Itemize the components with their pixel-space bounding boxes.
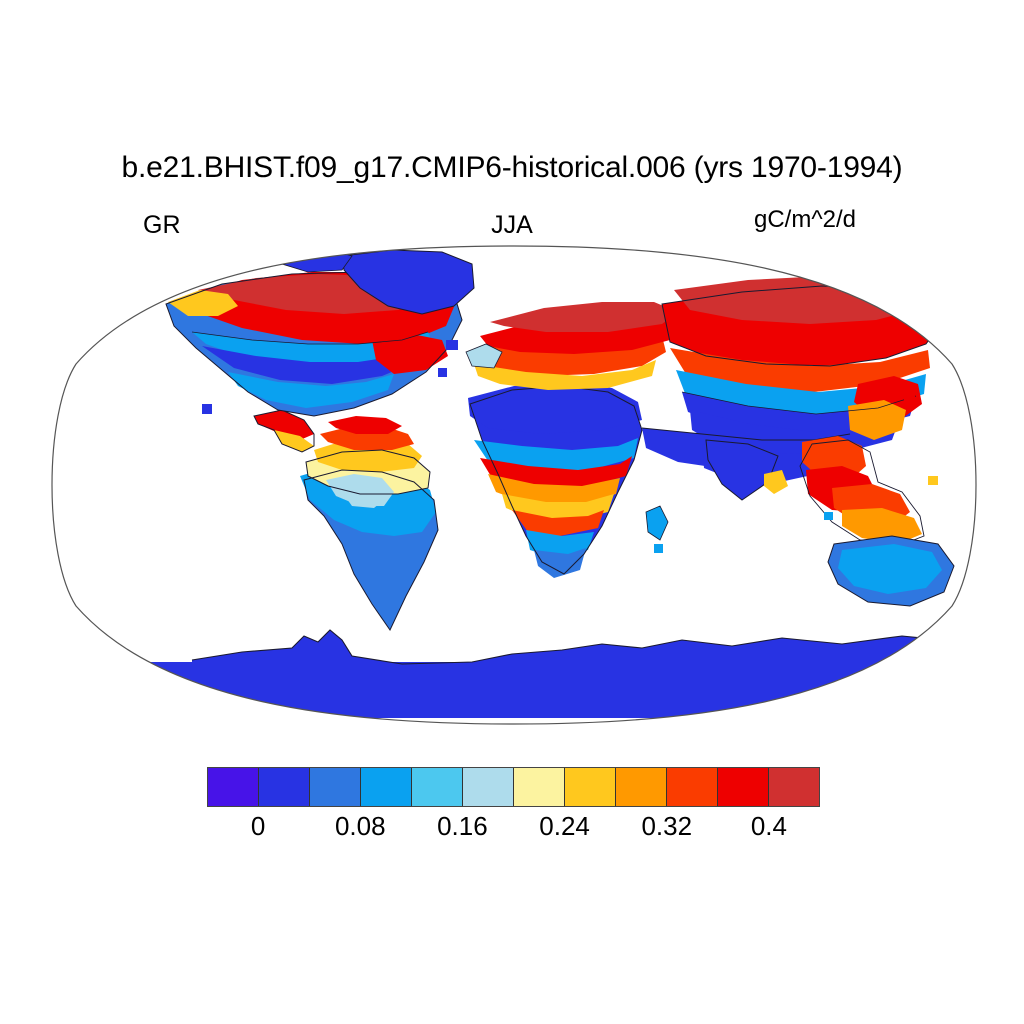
world-map (42, 244, 986, 726)
colorbar-bands (207, 767, 820, 807)
season-label: JJA (0, 211, 1024, 239)
colorbar-tick-label: 0.08 (335, 810, 386, 842)
colorbar-band (565, 768, 616, 806)
colorbar-band (259, 768, 310, 806)
map-data-layer (42, 244, 986, 726)
figure-canvas: b.e21.BHIST.f09_g17.CMIP6-historical.006… (0, 0, 1024, 1024)
colorbar-tick-label: 0.16 (437, 810, 488, 842)
colorbar-band (718, 768, 769, 806)
colorbar (207, 767, 820, 807)
colorbar-band (667, 768, 718, 806)
map-panel (42, 244, 986, 726)
page-title: b.e21.BHIST.f09_g17.CMIP6-historical.006… (0, 150, 1024, 186)
colorbar-band (361, 768, 412, 806)
colorbar-band (769, 768, 819, 806)
colorbar-ticks: 00.080.160.240.320.4 (207, 810, 820, 850)
colorbar-band (310, 768, 361, 806)
colorbar-band (616, 768, 667, 806)
colorbar-band (412, 768, 463, 806)
colorbar-band (208, 768, 259, 806)
colorbar-band (514, 768, 565, 806)
units-label: gC/m^2/d (754, 206, 856, 234)
colorbar-tick-label: 0 (251, 810, 265, 842)
colorbar-tick-label: 0.4 (751, 810, 787, 842)
colorbar-tick-label: 0.32 (641, 810, 692, 842)
colorbar-band (463, 768, 514, 806)
colorbar-tick-label: 0.24 (539, 810, 590, 842)
